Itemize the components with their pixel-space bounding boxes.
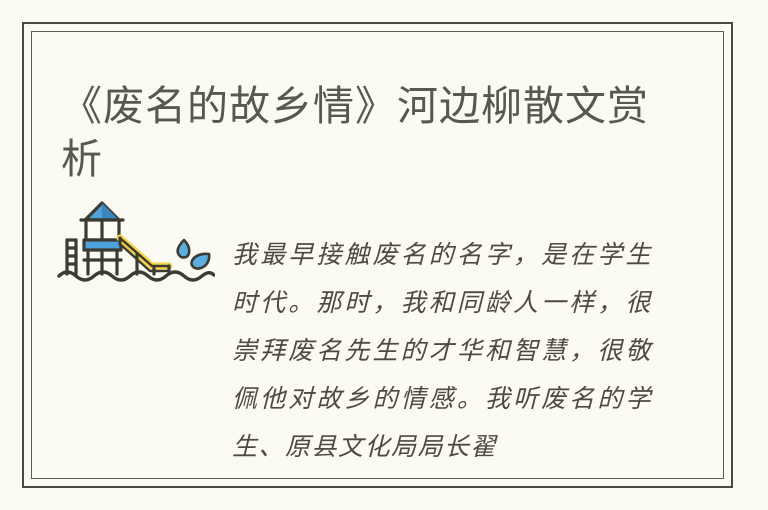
water-splash-icon — [192, 254, 210, 269]
article-page: 《废名的故乡情》河边柳散文赏析 — [0, 0, 768, 510]
page-title: 《废名的故乡情》河边柳散文赏析 — [61, 80, 661, 186]
water-droplet-icon — [178, 240, 190, 257]
water-wave-icon — [59, 272, 214, 280]
water-slide-illustration — [57, 196, 215, 288]
article-body: 我最早接触废名的名字，是在学生时代。那时，我和同龄人一样，很崇拜废名先生的才华和… — [232, 231, 652, 471]
